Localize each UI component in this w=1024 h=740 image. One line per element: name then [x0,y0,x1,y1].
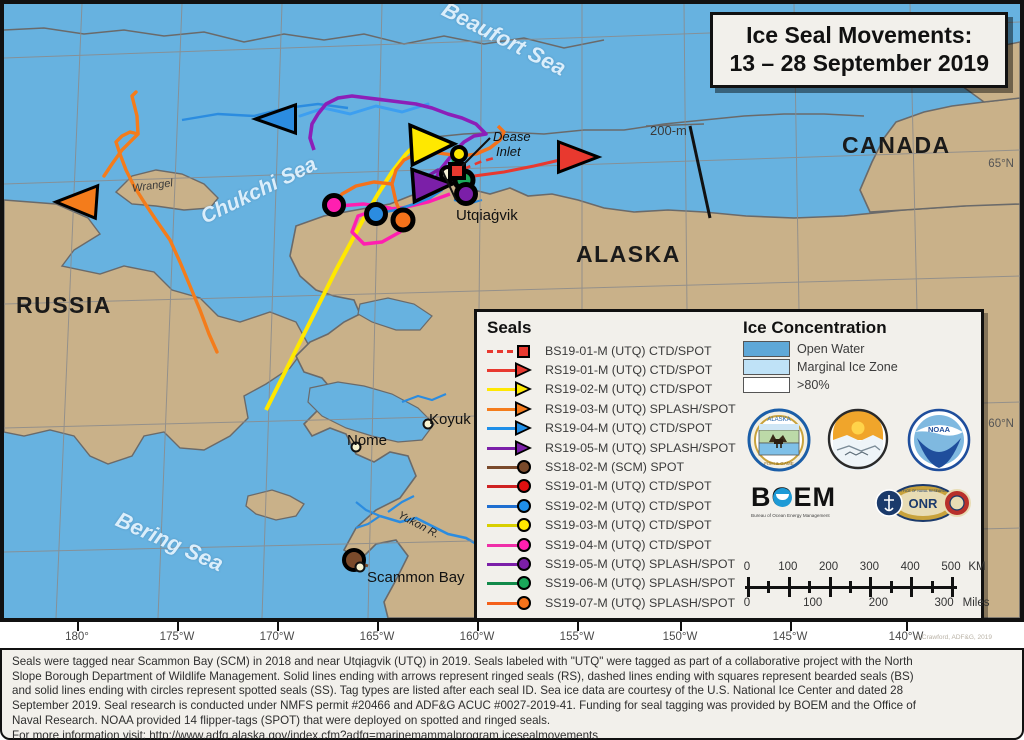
longitude-tick-label: 160°W [460,631,495,643]
svg-text:OFFICE OF NAVAL RESEARCH: OFFICE OF NAVAL RESEARCH [898,489,948,493]
noaa-logo: NOAA [907,408,971,472]
legend-seal-label: RS19-01-M (UTQ) CTD/SPOT [545,363,712,377]
nsb-logo [827,408,889,470]
legend-arrow-marker [515,381,532,397]
town-dot-scammon [356,563,365,572]
footer-line: Seals were tagged near Scammon Bay (SCM)… [12,655,1012,670]
legend-ice-label: >80% [797,378,830,392]
scale-major-tick [869,577,872,597]
legend-seal-row[interactable]: SS19-03-M (UTQ) CTD/SPOT [487,516,735,535]
legend-seal-row[interactable]: BS19-01-M (UTQ) CTD/SPOT [487,341,735,360]
legend-circle-marker [517,538,531,552]
longitude-axis: 180°175°W170°W165°W160°W155°W150°W145°W1… [0,622,1024,648]
marker-ss19-07 [393,210,413,230]
marker-ss19-03 [452,147,466,161]
scale-km-tick-label: 100 [778,561,797,573]
scale-major-tick [951,577,954,597]
longitude-tick [790,622,792,631]
scale-bar-graphic [741,577,979,597]
legend-seal-row[interactable]: SS19-01-M (UTQ) CTD/SPOT [487,477,735,496]
legend-seal-swatch [487,361,541,379]
legend-seal-label: BS19-01-M (UTQ) CTD/SPOT [545,344,712,358]
scale-km-tick-label: 400 [901,561,920,573]
town-dot-nome [352,443,361,452]
legend-seal-swatch [487,555,541,573]
legend-arrow-marker [515,401,532,417]
legend-seal-row[interactable]: RS19-04-M (UTQ) CTD/SPOT [487,419,735,438]
legend-seal-swatch [487,516,541,534]
longitude-tick [177,622,179,631]
legend-seal-label: RS19-04-M (UTQ) CTD/SPOT [545,421,712,435]
scale-minor-tick [931,581,934,593]
legend-seal-label: SS19-03-M (UTQ) CTD/SPOT [545,518,712,532]
boem-wordmark: BOEM [751,482,836,512]
legend-circle-marker [517,576,531,590]
legend-seal-label: SS19-07-M (UTQ) SPLASH/SPOT [545,596,735,610]
legend-seal-row[interactable]: RS19-02-M (UTQ) CTD/SPOT [487,380,735,399]
longitude-tick [477,622,479,631]
seals-legend-panel: Seals BS19-01-M (UTQ) CTD/SPOTRS19-01-M … [477,312,735,618]
adfg-logo: ALASKA FISH & GAME [747,408,811,472]
marker-ss19-02 [367,205,386,224]
marker-ss19-05 [457,185,476,204]
longitude-tick [906,622,908,631]
map-credit: J. Crawford, ADF&G, 2019 [915,634,992,641]
svg-text:ALASKA: ALASKA [767,417,790,423]
longitude-tick [680,622,682,631]
legend-ice-row[interactable]: Marginal Ice Zone [743,359,973,375]
scale-km-unit: KM [968,561,985,573]
longitude-tick [77,622,79,631]
footer-line: and solid lines ending with circles repr… [12,684,1012,699]
legend-seal-swatch [487,536,541,554]
legend-seal-swatch [487,342,541,360]
longitude-tick-label: 175°W [160,631,195,643]
legend-ice-swatch [743,359,790,375]
legend-ice-label: Marginal Ice Zone [797,360,898,374]
legend-seal-row[interactable]: SS19-06-M (UTQ) SPLASH/SPOT [487,574,735,593]
marker-ss19-04 [325,196,344,215]
scale-mi-unit: Miles [963,597,990,609]
legend-seal-swatch [487,419,541,437]
scale-minor-tick [767,581,770,593]
map-poster: RUSSIA ALASKA CANADA Beaufort Sea Chukch… [0,0,1024,740]
marker-bs19-01 [450,164,464,178]
legend-seal-row[interactable]: SS19-07-M (UTQ) SPLASH/SPOT [487,593,735,612]
legend-right-panel: Ice Concentration Open WaterMarginal Ice… [735,312,981,618]
scale-km-tick-label: 500 [941,561,960,573]
svg-text:ONR: ONR [909,496,939,511]
svg-text:NOAA: NOAA [928,425,951,434]
legend-seal-swatch [487,380,541,398]
legend-arrow-marker [515,420,532,436]
legend-arrow-marker [515,440,532,456]
scale-km-labels: 0100200300400500KM [741,561,979,576]
scale-mi-tick-label: 300 [934,597,953,609]
longitude-tick-label: 150°W [663,631,698,643]
legend-ice-row[interactable]: >80% [743,377,973,393]
longitude-tick [577,622,579,631]
scale-minor-tick [808,581,811,593]
footer-line: Naval Research. NOAA provided 14 flipper… [12,714,1012,729]
scale-minor-tick [849,581,852,593]
legend-seal-row[interactable]: SS19-04-M (UTQ) CTD/SPOT [487,535,735,554]
ice-legend-title: Ice Concentration [743,318,973,338]
scale-major-tick [747,577,750,597]
legend-seal-swatch [487,400,541,418]
scale-mi-labels: 0100200300Miles [741,597,979,612]
legend-seal-label: SS18-02-M (SCM) SPOT [545,460,684,474]
onr-logo: ONR OFFICE OF NAVAL RESEARCH [873,482,973,524]
scale-bar: 0100200300400500KM 0100200300Miles [741,561,979,612]
legend-square-marker [517,345,530,358]
title-box: Ice Seal Movements: 13 – 28 September 20… [710,12,1008,88]
legend-circle-marker [517,596,531,610]
scale-major-tick [788,577,791,597]
longitude-tick [377,622,379,631]
scale-minor-tick [890,581,893,593]
legend-seal-label: SS19-02-M (UTQ) CTD/SPOT [545,499,712,513]
longitude-tick-label: 165°W [360,631,395,643]
scale-mi-tick-label: 0 [744,597,750,609]
legend-seal-row[interactable]: SS18-02-M (SCM) SPOT [487,457,735,476]
scale-mi-tick-label: 200 [869,597,888,609]
legend-seal-label: SS19-05-M (UTQ) SPLASH/SPOT [545,557,735,571]
legend-box[interactable]: Seals BS19-01-M (UTQ) CTD/SPOTRS19-01-M … [474,309,984,621]
logo-group: ALASKA FISH & GAME [747,408,992,538]
scale-km-tick-label: 300 [860,561,879,573]
town-dot-koyuk [424,420,433,429]
legend-seal-label: SS19-01-M (UTQ) CTD/SPOT [545,479,712,493]
legend-circle-marker [517,460,531,474]
legend-seal-label: RS19-02-M (UTQ) CTD/SPOT [545,382,712,396]
longitude-tick-label: 170°W [260,631,295,643]
legend-seal-row[interactable]: RS19-05-M (UTQ) SPLASH/SPOT [487,438,735,457]
scale-km-tick-label: 0 [744,561,750,573]
footer-line: Slope Borough Department of Wildlife Man… [12,670,1012,685]
legend-ice-swatch [743,341,790,357]
legend-seal-swatch [487,574,541,592]
legend-seal-swatch [487,497,541,515]
longitude-tick-label: 180° [65,631,89,643]
legend-circle-marker [517,557,531,571]
legend-seal-label: RS19-03-M (UTQ) SPLASH/SPOT [545,402,736,416]
map-frame[interactable]: RUSSIA ALASKA CANADA Beaufort Sea Chukch… [0,0,1024,622]
legend-arrow-marker [515,362,532,378]
legend-seal-label: RS19-05-M (UTQ) SPLASH/SPOT [545,441,736,455]
boem-subtitle: Bureau of Ocean Energy Management [751,513,861,518]
legend-seal-row[interactable]: RS19-01-M (UTQ) CTD/SPOT [487,360,735,379]
scale-mi-tick-label: 100 [803,597,822,609]
boem-logo: BOEM Bureau of Ocean Energy Management [751,484,861,518]
longitude-tick [277,622,279,631]
svg-text:FISH & GAME: FISH & GAME [764,461,794,466]
lat-label-65n: 65°N [988,158,1014,170]
footer-line[interactable]: For more information visit: http://www.a… [12,729,1012,740]
footer-line: September 2019. Seal research is conduct… [12,699,1012,714]
lat-label-60n: 60°N [988,418,1014,430]
legend-ice-swatch [743,377,790,393]
legend-circle-marker [517,479,531,493]
legend-seal-swatch [487,594,541,612]
legend-ice-row[interactable]: Open Water [743,341,973,357]
seals-legend-title: Seals [487,318,735,338]
scale-km-tick-label: 200 [819,561,838,573]
legend-seal-swatch [487,477,541,495]
longitude-tick-label: 145°W [773,631,808,643]
legend-seal-row[interactable]: SS19-05-M (UTQ) SPLASH/SPOT [487,554,735,573]
legend-seal-swatch [487,458,541,476]
legend-circle-marker [517,518,531,532]
footer-notes: J. Crawford, ADF&G, 2019 Seals were tagg… [0,648,1024,740]
legend-seal-label: SS19-04-M (UTQ) CTD/SPOT [545,538,712,552]
legend-seal-label: SS19-06-M (UTQ) SPLASH/SPOT [545,576,735,590]
scale-major-tick [910,577,913,597]
legend-seal-row[interactable]: SS19-02-M (UTQ) CTD/SPOT [487,496,735,515]
scale-major-tick [829,577,832,597]
title-line-2: 13 – 28 September 2019 [729,49,989,77]
legend-ice-label: Open Water [797,342,864,356]
longitude-tick-label: 155°W [560,631,595,643]
legend-seal-swatch [487,439,541,457]
legend-circle-marker [517,499,531,513]
title-line-1: Ice Seal Movements: [729,21,989,49]
legend-seal-row[interactable]: RS19-03-M (UTQ) SPLASH/SPOT [487,399,735,418]
